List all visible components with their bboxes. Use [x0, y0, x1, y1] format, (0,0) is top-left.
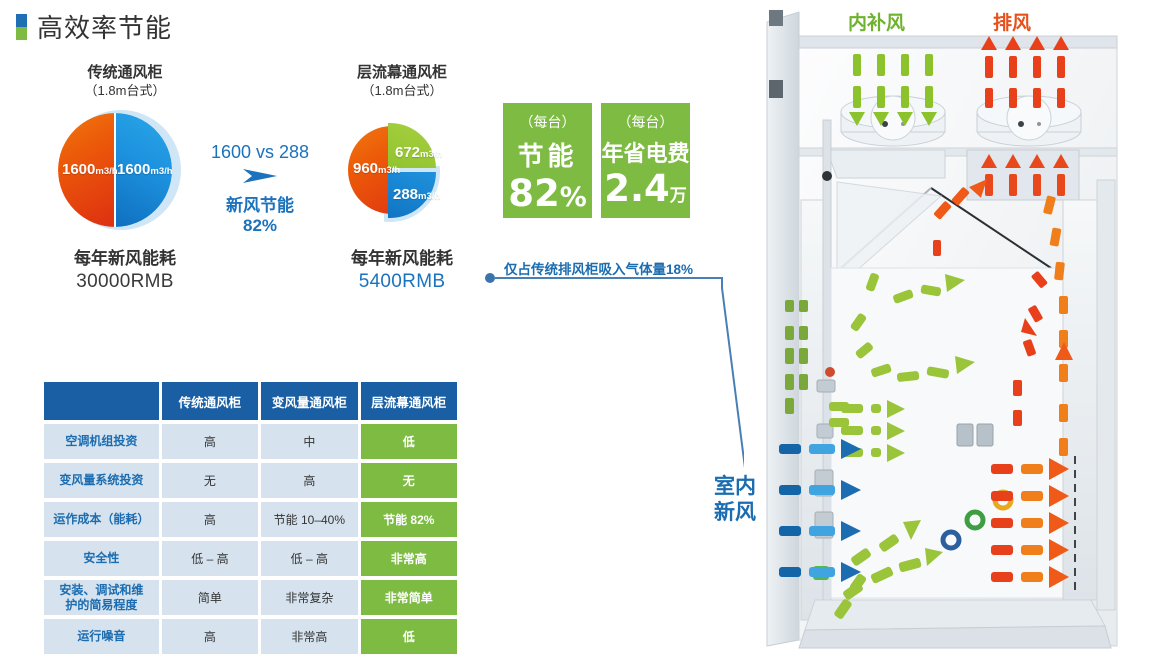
table-cell: 简单: [162, 580, 258, 615]
right-chart-caption: 层流幕通风柜 （1.8m台式）: [312, 64, 492, 99]
callout-leader-line: [484, 272, 744, 502]
right-arrow-icon: [237, 165, 283, 187]
table-cell-highlight: 非常简单: [361, 580, 457, 615]
label-supply-air: 内补风: [848, 8, 905, 35]
table-header-cell: 变风量通风柜: [261, 382, 357, 420]
table-cell-highlight: 节能 82%: [361, 502, 457, 537]
table-row: 运作成本（能耗）高节能 10–40%节能 82%: [44, 502, 457, 537]
badge-energy-saving: （每台） 节能 82%: [503, 103, 592, 218]
table-header-blank: [44, 382, 159, 420]
table-cell-highlight: 低: [361, 619, 457, 654]
table-cell-highlight: 无: [361, 463, 457, 498]
table-row: 安全性低 – 高低 – 高非常高: [44, 541, 457, 576]
table-cell: 低 – 高: [261, 541, 357, 576]
table-header-row: 传统通风柜变风量通风柜层流幕通风柜: [44, 382, 457, 420]
table-row-header: 运行噪音: [44, 619, 159, 654]
table-row-header: 变风量系统投资: [44, 463, 159, 498]
table-cell: 中: [261, 424, 357, 459]
table-row-header: 安装、调试和维护的简易程度: [44, 580, 159, 615]
label-indoor-air: 室内新风: [714, 474, 756, 527]
page-title: 高效率节能: [37, 8, 172, 45]
pie-label-green: 672m3/h: [395, 144, 442, 162]
pie-label-blue: 288m3/h: [393, 186, 440, 204]
table-cell: 节能 10–40%: [261, 502, 357, 537]
pie-label-orange: 960m3/h: [353, 160, 400, 178]
badge-value: 2.4万元: [601, 170, 690, 244]
table-row-header: 空调机组投资: [44, 424, 159, 459]
left-pie-chart: 1600m3/h 1600m3/h: [45, 110, 205, 230]
infographic-page: 高效率节能 传统通风柜 （1.8m台式） 1600m3/h 1600m3/h 每…: [0, 0, 1149, 660]
right-chart-footer: 每年新风能耗 5400RMB: [312, 248, 492, 295]
table-cell: 高: [162, 502, 258, 537]
vs-saving-value: 82%: [196, 216, 324, 236]
table-cell: 非常复杂: [261, 580, 357, 615]
badge-annual-saving: （每台） 年省电费 2.4万元: [601, 103, 690, 218]
pie-label-orange: 1600m3/h: [62, 161, 118, 179]
vs-saving-label: 新风节能: [196, 191, 324, 216]
table-row: 安装、调试和维护的简易程度简单非常复杂非常简单: [44, 580, 457, 615]
table-cell: 高: [162, 424, 258, 459]
left-chart-footer: 每年新风能耗 30000RMB: [35, 248, 215, 295]
table-row: 运行噪音高非常高低: [44, 619, 457, 654]
table-row-header: 运作成本（能耗）: [44, 502, 159, 537]
label-exhaust-air: 排风: [993, 8, 1031, 35]
left-chart-caption: 传统通风柜 （1.8m台式）: [35, 64, 215, 99]
table-cell-highlight: 非常高: [361, 541, 457, 576]
header-bullet-icon: [16, 14, 27, 40]
badge-value: 82%: [503, 175, 592, 212]
page-header: 高效率节能: [16, 8, 172, 45]
table-row: 变风量系统投资无高无: [44, 463, 457, 498]
table-cell: 高: [261, 463, 357, 498]
table-cell: 无: [162, 463, 258, 498]
vs-ratio-text: 1600 vs 288: [196, 142, 324, 163]
table-cell: 非常高: [261, 619, 357, 654]
table-row: 空调机组投资高中低: [44, 424, 457, 459]
table-header-cell: 传统通风柜: [162, 382, 258, 420]
table-cell: 高: [162, 619, 258, 654]
comparison-summary: 1600 vs 288 新风节能 82%: [196, 142, 324, 236]
table-cell-highlight: 低: [361, 424, 457, 459]
table-header-cell: 层流幕通风柜: [361, 382, 457, 420]
table-row-header: 安全性: [44, 541, 159, 576]
fume-hood-diagram: [745, 0, 1149, 660]
comparison-table: 传统通风柜变风量通风柜层流幕通风柜空调机组投资高中低变风量系统投资无高无运作成本…: [41, 378, 460, 658]
right-pie-chart: 960m3/h 672m3/h 288m3/h: [340, 122, 490, 222]
fume-hood-illustration: 内补风 排风: [745, 0, 1149, 660]
table-cell: 低 – 高: [162, 541, 258, 576]
pie-label-blue: 1600m3/h: [117, 161, 173, 179]
